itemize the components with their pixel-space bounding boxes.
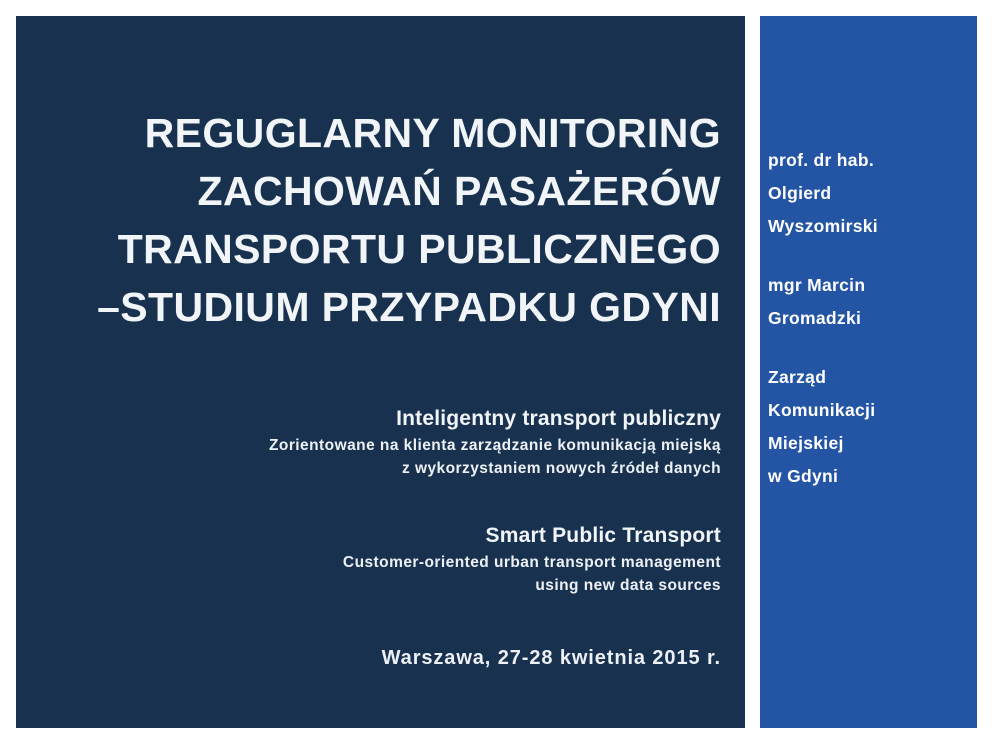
subtitle-polish-line-2: z wykorzystaniem nowych źródeł danych bbox=[40, 457, 721, 480]
author-panel-content: prof. dr hab. Olgierd Wyszomirski mgr Ma… bbox=[768, 144, 973, 493]
affiliation-line-2: Komunikacji bbox=[768, 394, 973, 427]
main-content-panel: REGUGLARNY MONITORING ZACHOWAŃ PASAŻERÓW… bbox=[16, 16, 745, 728]
page-title: REGUGLARNY MONITORING ZACHOWAŃ PASAŻERÓW… bbox=[40, 104, 721, 336]
author-panel: prof. dr hab. Olgierd Wyszomirski mgr Ma… bbox=[760, 16, 977, 728]
title-line-2: ZACHOWAŃ PASAŻERÓW bbox=[40, 162, 721, 220]
event-date-text: Warszawa, 27-28 kwietnia 2015 r. bbox=[40, 644, 721, 672]
author-primary-firstname: Olgierd bbox=[768, 177, 973, 210]
subtitle-english-heading: Smart Public Transport bbox=[40, 521, 721, 551]
presentation-slide: REGUGLARNY MONITORING ZACHOWAŃ PASAŻERÓW… bbox=[0, 0, 992, 744]
affiliation-group: Zarząd Komunikacji Miejskiej w Gdyni bbox=[768, 361, 973, 493]
affiliation-line-1: Zarząd bbox=[768, 361, 973, 394]
author-group-secondary: mgr Marcin Gromadzki bbox=[768, 269, 973, 335]
author-primary-title: prof. dr hab. bbox=[768, 144, 973, 177]
subtitle-english: Smart Public Transport Customer-oriented… bbox=[40, 521, 721, 597]
affiliation-line-3: Miejskiej bbox=[768, 427, 973, 460]
subtitle-english-line-1: Customer-oriented urban transport manage… bbox=[40, 551, 721, 574]
subtitle-polish: Inteligentny transport publiczny Zorient… bbox=[40, 404, 721, 480]
title-line-3: TRANSPORTU PUBLICZNEGO bbox=[40, 220, 721, 278]
subtitle-english-line-2: using new data sources bbox=[40, 574, 721, 597]
author-group-primary: prof. dr hab. Olgierd Wyszomirski bbox=[768, 144, 973, 243]
affiliation-line-4: w Gdyni bbox=[768, 460, 973, 493]
author-secondary-title-firstname: mgr Marcin bbox=[768, 269, 973, 302]
title-line-4: –STUDIUM PRZYPADKU GDYNI bbox=[40, 278, 721, 336]
subtitle-polish-heading: Inteligentny transport publiczny bbox=[40, 404, 721, 434]
author-secondary-lastname: Gromadzki bbox=[768, 302, 973, 335]
title-line-1: REGUGLARNY MONITORING bbox=[40, 104, 721, 162]
subtitle-polish-line-1: Zorientowane na klienta zarządzanie komu… bbox=[40, 434, 721, 457]
event-date: Warszawa, 27-28 kwietnia 2015 r. bbox=[40, 644, 721, 672]
author-primary-lastname: Wyszomirski bbox=[768, 210, 973, 243]
